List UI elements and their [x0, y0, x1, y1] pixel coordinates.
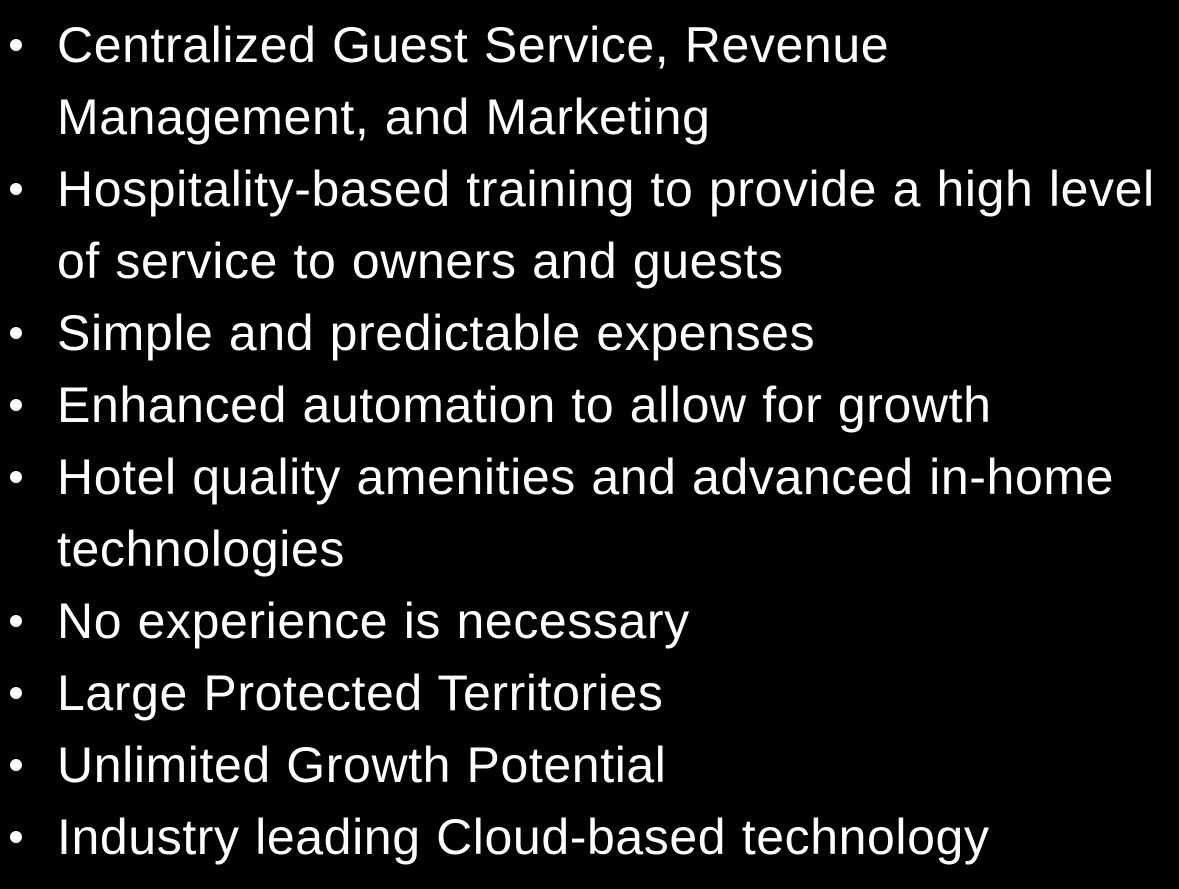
list-item: Industry leading Cloud-based technology: [0, 801, 1179, 873]
bullet-point-icon: [10, 399, 22, 411]
list-item: No experience is necessary: [0, 585, 1179, 657]
list-item: Simple and predictable expenses: [0, 297, 1179, 369]
list-item-text: Large Protected Territories: [57, 657, 1173, 729]
list-item: Unlimited Growth Potential: [0, 729, 1179, 801]
list-item-text: Centralized Guest Service, Revenue Manag…: [57, 9, 1173, 153]
bullet-point-icon: [10, 327, 22, 339]
list-item-text: Hospitality-based training to provide a …: [57, 153, 1173, 297]
list-item-text: Hotel quality amenities and advanced in-…: [57, 441, 1173, 585]
bullet-point-icon: [10, 471, 22, 483]
bullet-list: Centralized Guest Service, Revenue Manag…: [0, 9, 1179, 873]
bullet-point-icon: [10, 615, 22, 627]
list-item: Hospitality-based training to provide a …: [0, 153, 1179, 297]
bullet-point-icon: [10, 687, 22, 699]
list-item: Centralized Guest Service, Revenue Manag…: [0, 9, 1179, 153]
bullet-point-icon: [10, 183, 22, 195]
list-item-text: Enhanced automation to allow for growth: [57, 369, 1173, 441]
list-item: Enhanced automation to allow for growth: [0, 369, 1179, 441]
list-item-text: Unlimited Growth Potential: [57, 729, 1173, 801]
bullet-point-icon: [10, 39, 22, 51]
bullet-point-icon: [10, 759, 22, 771]
bullet-point-icon: [10, 831, 22, 843]
list-item: Hotel quality amenities and advanced in-…: [0, 441, 1179, 585]
presentation-slide: Centralized Guest Service, Revenue Manag…: [0, 0, 1179, 889]
list-item-text: No experience is necessary: [57, 585, 1173, 657]
list-item-text: Industry leading Cloud-based technology: [57, 801, 1173, 873]
list-item-text: Simple and predictable expenses: [57, 297, 1173, 369]
list-item: Large Protected Territories: [0, 657, 1179, 729]
